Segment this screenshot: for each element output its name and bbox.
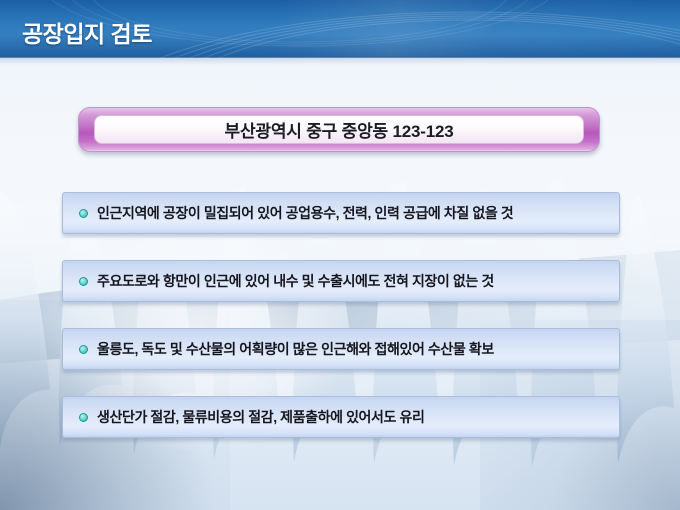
bullet-row: 생산단가 절감, 물류비용의 절감, 제품출하에 있어서도 유리: [62, 396, 620, 438]
address-heading-inner: 부산광역시 중구 중앙동 123-123: [94, 115, 584, 144]
bullet-row: 인근지역에 공장이 밀집되어 있어 공업용수, 전력, 인력 공급에 차질 없을…: [62, 192, 620, 234]
bullet-row: 울릉도, 독도 및 수산물의 어획량이 많은 인근해와 접해있어 수산물 확보: [62, 328, 620, 370]
teal-ring-bullet-icon: [79, 209, 88, 218]
teal-ring-bullet-icon: [79, 413, 88, 422]
teal-ring-bullet-icon: [79, 345, 88, 354]
bullet-text: 생산단가 절감, 물류비용의 절감, 제품출하에 있어서도 유리: [97, 410, 424, 424]
page-title: 공장입지 검토: [22, 15, 152, 49]
header-drop-shadow: [0, 58, 680, 65]
bullet-text: 인근지역에 공장이 밀집되어 있어 공업용수, 전력, 인력 공급에 차질 없을…: [97, 206, 513, 220]
address-heading-text: 부산광역시 중구 중앙동 123-123: [225, 117, 454, 142]
teal-ring-bullet-icon: [79, 277, 88, 286]
slide: 공장입지 검토 부산광역시 중구 중앙동 123-123 인근지역에 공장이 밀…: [0, 0, 680, 510]
bullet-row: 주요도로와 항만이 인근에 있어 내수 및 수출시에도 전혀 지장이 없는 것: [62, 260, 620, 302]
bullet-text: 주요도로와 항만이 인근에 있어 내수 및 수출시에도 전혀 지장이 없는 것: [97, 274, 494, 288]
bullet-list: 인근지역에 공장이 밀집되어 있어 공업용수, 전력, 인력 공급에 차질 없을…: [62, 192, 620, 438]
bullet-text: 울릉도, 독도 및 수산물의 어획량이 많은 인근해와 접해있어 수산물 확보: [97, 342, 494, 356]
header-banner: 공장입지 검토: [0, 0, 680, 58]
address-heading-box: 부산광역시 중구 중앙동 123-123: [78, 107, 600, 152]
